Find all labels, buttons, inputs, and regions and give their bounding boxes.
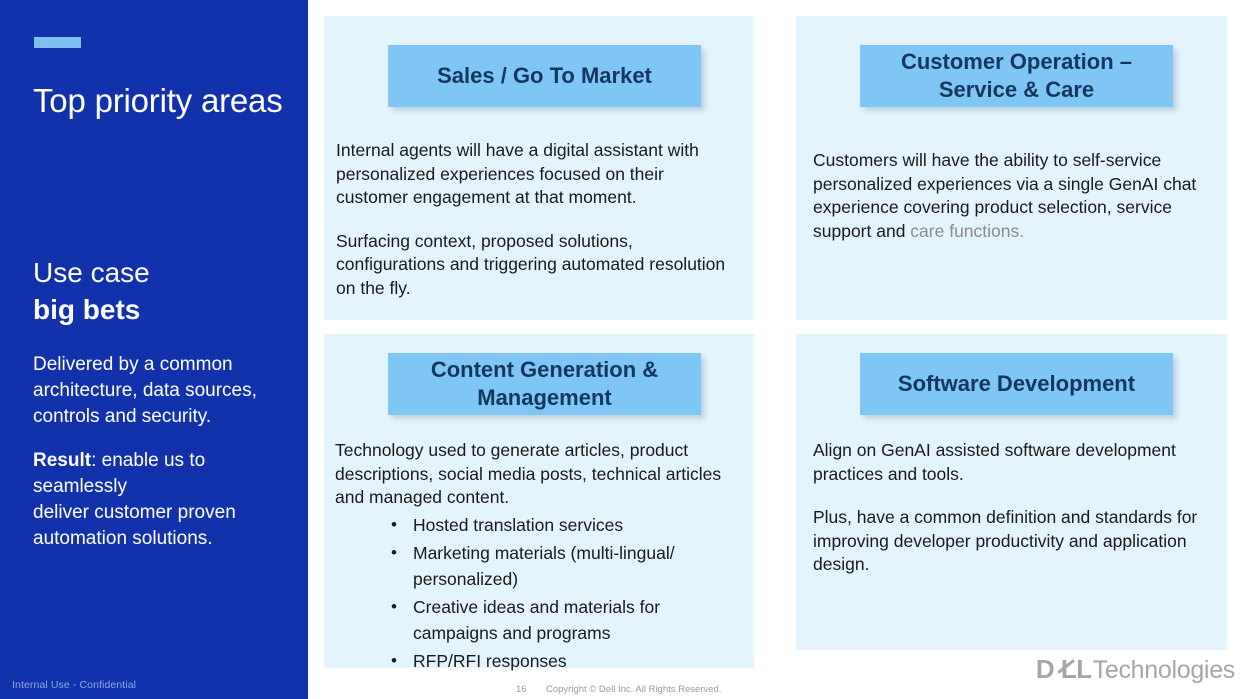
card-body-customer-operation: Customers will have the ability to self-… — [813, 149, 1223, 243]
card-customer-operation: Customer Operation – Service & Care Cust… — [796, 16, 1227, 320]
sidebar-paragraph-delivered: Delivered by a common architecture, data… — [33, 352, 278, 430]
card-body-software-development: Align on GenAI assisted software develop… — [813, 439, 1218, 577]
sales-paragraph-2: Surfacing context, proposed solutions, c… — [336, 230, 736, 301]
use-case-line-1: Use case — [33, 254, 293, 291]
software-dev-paragraph-1: Align on GenAI assisted software develop… — [813, 439, 1218, 486]
content-gen-intro: Technology used to generate articles, pr… — [335, 439, 745, 510]
card-header-software-development: Software Development — [860, 353, 1173, 415]
page-number: 16 — [516, 684, 527, 695]
result-label: Result — [33, 450, 91, 471]
use-case-heading: Use case big bets — [33, 254, 293, 328]
confidentiality-notice: Internal Use - Confidential — [12, 679, 136, 691]
list-item: Hosted translation services — [387, 512, 745, 538]
card-sales-go-to-market: Sales / Go To Market Internal agents wil… — [324, 16, 754, 320]
content-gen-bullet-list: Hosted translation services Marketing ma… — [335, 512, 745, 674]
accent-bar — [34, 37, 81, 48]
copyright-notice: Copyright © Dell Inc. All Rights Reserve… — [546, 684, 721, 695]
card-content-generation: Content Generation & Management Technolo… — [324, 334, 754, 668]
customer-op-paragraph: Customers will have the ability to self-… — [813, 149, 1223, 243]
software-dev-paragraph-2: Plus, have a common definition and stand… — [813, 506, 1218, 577]
page-title: Top priority areas — [33, 78, 288, 123]
customer-op-text-muted: care functions. — [910, 221, 1024, 241]
sidebar-paragraph-result: Result: enable us to seamlesslydeliver c… — [33, 448, 278, 552]
card-header-sales: Sales / Go To Market — [388, 45, 701, 107]
list-item: Creative ideas and materials for campaig… — [387, 594, 745, 646]
sidebar-body-text: Delivered by a common architecture, data… — [33, 352, 278, 570]
technologies-wordmark: Technologies — [1093, 656, 1235, 685]
card-body-sales: Internal agents will have a digital assi… — [336, 139, 736, 300]
dell-wordmark: D LL — [1036, 654, 1092, 685]
dell-wordmark-text: D LL — [1036, 654, 1092, 684]
sidebar-panel: Top priority areas Use case big bets Del… — [0, 0, 308, 699]
sales-paragraph-1: Internal agents will have a digital assi… — [336, 139, 736, 210]
card-header-customer-operation: Customer Operation – Service & Care — [860, 45, 1173, 107]
card-software-development: Software Development Align on GenAI assi… — [796, 334, 1227, 650]
result-text-part2: deliver customer proven automation solut… — [33, 502, 236, 549]
card-header-content-generation: Content Generation & Management — [388, 353, 701, 415]
list-item: Marketing materials (multi-lingual/ pers… — [387, 540, 745, 592]
use-case-line-2: big bets — [33, 291, 293, 328]
dell-technologies-logo: D LL Technologies — [1036, 654, 1235, 685]
list-item: RFP/RFI responses — [387, 648, 745, 674]
card-body-content-generation: Technology used to generate articles, pr… — [335, 439, 745, 676]
